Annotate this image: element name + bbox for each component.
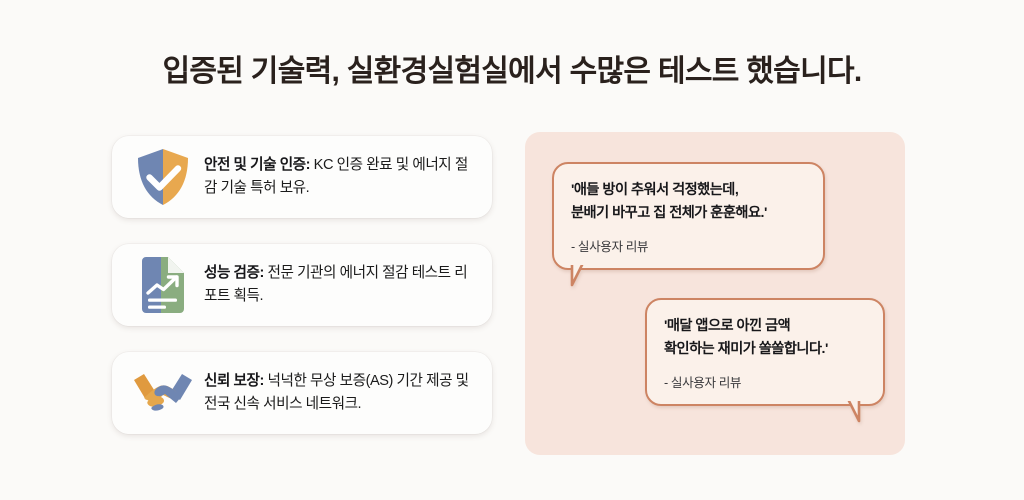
promo-section: 입증된 기술력, 실환경실험실에서 수많은 테스트 했습니다. [0,0,1024,500]
review-source: - 실사용자 리뷰 [664,372,867,391]
review-quote: '애들 방이 추워서 걱정했는데, 분배기 바꾸고 집 전체가 훈훈해요.' [571,179,807,225]
review-bubble-1: '애들 방이 추워서 걱정했는데, 분배기 바꾸고 집 전체가 훈훈해요.' -… [552,162,825,270]
feature-card-trust: 신뢰 보장: 넉넉한 무상 보증(AS) 기간 제공 및 전국 신속 서비스 네… [112,352,492,434]
bubble-tail-down-right-icon [821,401,861,435]
document-chart-icon [132,254,194,316]
review-bubble-body: '매달 앱으로 아낀 금액 확인하는 재미가 쏠쏠합니다.' - 실사용자 리뷰 [647,300,883,404]
feature-lead: 안전 및 기술 인증: [204,157,310,173]
feature-card-text: 성능 검증: 전문 기관의 에너지 절감 테스트 리포트 획득. [204,262,474,307]
bubble-tail-down-left-icon [570,265,610,299]
feature-card-certification: 안전 및 기술 인증: KC 인증 완료 및 에너지 절감 기술 특허 보유. [112,136,492,218]
shield-check-icon [132,146,194,208]
review-bubble-body: '애들 방이 추워서 걱정했는데, 분배기 바꾸고 집 전체가 훈훈해요.' -… [554,164,823,268]
feature-lead: 신뢰 보장: [204,373,264,389]
review-source: - 실사용자 리뷰 [571,236,807,255]
feature-card-text: 신뢰 보장: 넉넉한 무상 보증(AS) 기간 제공 및 전국 신속 서비스 네… [204,370,474,415]
feature-card-list: 안전 및 기술 인증: KC 인증 완료 및 에너지 절감 기술 특허 보유. [112,136,492,434]
handshake-icon [132,362,194,424]
page-title: 입증된 기술력, 실환경실험실에서 수많은 테스트 했습니다. [0,46,1024,90]
review-bubble-2: '매달 앱으로 아낀 금액 확인하는 재미가 쏠쏠합니다.' - 실사용자 리뷰 [645,298,885,406]
feature-card-text: 안전 및 기술 인증: KC 인증 완료 및 에너지 절감 기술 특허 보유. [204,154,474,199]
review-quote: '매달 앱으로 아낀 금액 확인하는 재미가 쏠쏠합니다.' [664,315,867,361]
feature-card-performance: 성능 검증: 전문 기관의 에너지 절감 테스트 리포트 획득. [112,244,492,326]
feature-lead: 성능 검증: [204,265,264,281]
review-panel: '애들 방이 추워서 걱정했는데, 분배기 바꾸고 집 전체가 훈훈해요.' -… [525,132,905,455]
